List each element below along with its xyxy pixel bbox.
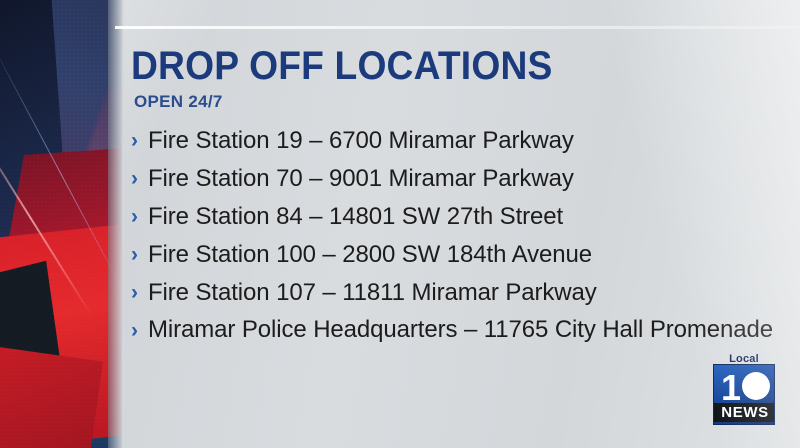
graphic-dot-texture bbox=[0, 0, 122, 448]
chevron-right-icon: › bbox=[131, 124, 146, 158]
page-subtitle: OPEN 24/7 bbox=[134, 93, 774, 111]
logo-blue-box: 1 NEWS bbox=[713, 364, 775, 425]
drop-off-locations-card: DROP OFF LOCATIONS OPEN 24/7 › Fire Stat… bbox=[115, 28, 800, 448]
list-item-label: Fire Station 100 – 2800 SW 184th Avenue bbox=[148, 238, 592, 272]
list-item: › Fire Station 70 – 9001 Miramar Parkway bbox=[131, 162, 774, 198]
chevron-right-icon: › bbox=[131, 162, 146, 196]
local-10-news-logo: Local 1 NEWS bbox=[713, 352, 775, 425]
logo-digit-one: 1 bbox=[721, 370, 741, 406]
abstract-news-graphic bbox=[0, 0, 122, 448]
logo-sunset-zero-icon bbox=[742, 372, 770, 400]
logo-news-label: NEWS bbox=[714, 403, 775, 422]
chevron-right-icon: › bbox=[131, 238, 146, 272]
list-item-label: Fire Station 70 – 9001 Miramar Parkway bbox=[148, 162, 574, 196]
list-item: › Miramar Police Headquarters – 11765 Ci… bbox=[131, 314, 774, 350]
chevron-right-icon: › bbox=[131, 276, 146, 310]
chevron-right-icon: › bbox=[131, 314, 146, 348]
chevron-right-icon: › bbox=[131, 200, 146, 234]
list-item-label: Fire Station 84 – 14801 SW 27th Street bbox=[148, 200, 563, 234]
list-item: › Fire Station 107 – 11811 Miramar Parkw… bbox=[131, 276, 774, 312]
list-item: › Fire Station 100 – 2800 SW 184th Avenu… bbox=[131, 238, 774, 274]
list-item-label: Miramar Police Headquarters – 11765 City… bbox=[148, 314, 773, 345]
locations-list: › Fire Station 19 – 6700 Miramar Parkway… bbox=[131, 124, 774, 350]
list-item-label: Fire Station 107 – 11811 Miramar Parkway bbox=[148, 276, 597, 310]
broadcast-graphic-frame: DROP OFF LOCATIONS OPEN 24/7 › Fire Stat… bbox=[0, 0, 800, 448]
page-title: DROP OFF LOCATIONS bbox=[131, 46, 729, 86]
list-item: › Fire Station 19 – 6700 Miramar Parkway bbox=[131, 124, 774, 160]
list-item: › Fire Station 84 – 14801 SW 27th Street bbox=[131, 200, 774, 236]
list-item-label: Fire Station 19 – 6700 Miramar Parkway bbox=[148, 124, 574, 158]
